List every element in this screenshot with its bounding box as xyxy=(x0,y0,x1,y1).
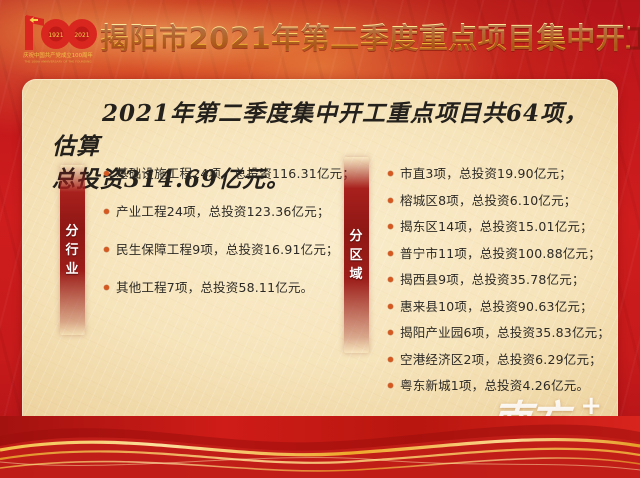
poster-root: 1921 2021 庆祝中国共产党成立100周年 THE 100th ANNIV… xyxy=(0,0,640,478)
list-item-label: 空港经济区2项，总投资6.29亿元； xyxy=(400,351,602,368)
content-card: 2021年第二季度集中开工重点项目共64项，估算 总投资314.69亿元。 分 … xyxy=(22,79,618,455)
list-item: 粤东新城1项，总投资4.26亿元。 xyxy=(388,377,610,394)
list-item-label: 基础设施工程24项，总投资116.31亿元； xyxy=(116,165,355,182)
ribbon-char: 域 xyxy=(349,265,363,284)
bullet-icon xyxy=(388,198,393,203)
bullet-icon xyxy=(104,285,109,290)
list-item: 揭东区14项，总投资15.01亿元； xyxy=(388,218,610,235)
ribbon-label-by-industry: 分 行 业 xyxy=(60,165,85,335)
ribbon-char: 分 xyxy=(349,227,363,246)
bullet-icon xyxy=(388,251,393,256)
ribbon-char: 行 xyxy=(65,241,79,260)
list-item-label: 粤东新城1项，总投资4.26亿元。 xyxy=(400,377,589,394)
list-by-region: 市直3项，总投资19.90亿元； 榕城区8项，总投资6.10亿元； 揭东区14项… xyxy=(388,165,610,404)
bullet-icon xyxy=(388,383,393,388)
list-item-label: 揭阳产业园6项，总投资35.83亿元； xyxy=(400,324,610,341)
list-item: 惠来县10项，总投资90.63亿元； xyxy=(388,298,610,315)
bullet-icon xyxy=(104,171,109,176)
list-item-label: 产业工程24项，总投资123.36亿元； xyxy=(116,203,330,220)
cpc-100th-anniversary-emblem-icon: 1921 2021 庆祝中国共产党成立100周年 THE 100th ANNIV… xyxy=(14,10,102,66)
logo-caption-cn: 庆祝中国共产党成立100周年 xyxy=(23,51,93,59)
list-item: 普宁市11项，总投资100.88亿元； xyxy=(388,245,610,262)
list-item-label: 惠来县10项，总投资90.63亿元； xyxy=(400,298,593,315)
ribbon-char: 分 xyxy=(65,222,79,241)
list-item-label: 揭西县9项，总投资35.78亿元； xyxy=(400,271,585,288)
list-item: 基础设施工程24项，总投资116.31亿元； xyxy=(104,165,355,182)
bullet-icon xyxy=(388,357,393,362)
ribbon-label-by-region: 分 区 域 xyxy=(344,157,369,353)
ribbon-char: 区 xyxy=(349,246,363,265)
bullet-icon xyxy=(104,209,109,214)
list-item: 榕城区8项，总投资6.10亿元； xyxy=(388,192,610,209)
bullet-icon xyxy=(388,277,393,282)
headline-line-1: 2021年第二季度集中开工重点项目共64项，估算 xyxy=(52,100,588,160)
bullet-icon xyxy=(388,171,393,176)
list-item-label: 榕城区8项，总投资6.10亿元； xyxy=(400,192,577,209)
ribbon-char: 业 xyxy=(65,260,79,279)
poster-header: 1921 2021 庆祝中国共产党成立100周年 THE 100th ANNIV… xyxy=(0,0,640,76)
list-item: 市直3项，总投资19.90亿元； xyxy=(388,165,610,182)
list-item: 空港经济区2项，总投资6.29亿元； xyxy=(388,351,610,368)
list-item: 民生保障工程9项，总投资16.91亿元； xyxy=(104,241,355,258)
list-item: 揭阳产业园6项，总投资35.83亿元； xyxy=(388,324,610,341)
list-item-label: 民生保障工程9项，总投资16.91亿元； xyxy=(116,241,339,258)
footer-ribbon-decoration xyxy=(0,416,640,478)
list-item-label: 市直3项，总投资19.90亿元； xyxy=(400,165,572,182)
svg-text:2021: 2021 xyxy=(74,32,89,39)
list-item-label: 其他工程7项，总投资58.11亿元。 xyxy=(116,279,313,296)
bullet-icon xyxy=(104,247,109,252)
logo-caption-en: THE 100th ANNIVERSARY OF THE FOUNDING xyxy=(23,60,92,64)
list-item-label: 揭东区14项，总投资15.01亿元； xyxy=(400,218,593,235)
svg-text:1921: 1921 xyxy=(48,32,63,39)
list-item-label: 普宁市11项，总投资100.88亿元； xyxy=(400,245,601,262)
bullet-icon xyxy=(388,330,393,335)
list-item: 其他工程7项，总投资58.11亿元。 xyxy=(104,279,355,296)
list-item: 揭西县9项，总投资35.78亿元； xyxy=(388,271,610,288)
bullet-icon xyxy=(388,304,393,309)
bullet-icon xyxy=(388,224,393,229)
poster-title: 揭阳市2021年第二季度重点项目集中开工活动 xyxy=(100,16,630,60)
list-by-industry: 基础设施工程24项，总投资116.31亿元； 产业工程24项，总投资123.36… xyxy=(104,165,355,317)
list-item: 产业工程24项，总投资123.36亿元； xyxy=(104,203,355,220)
